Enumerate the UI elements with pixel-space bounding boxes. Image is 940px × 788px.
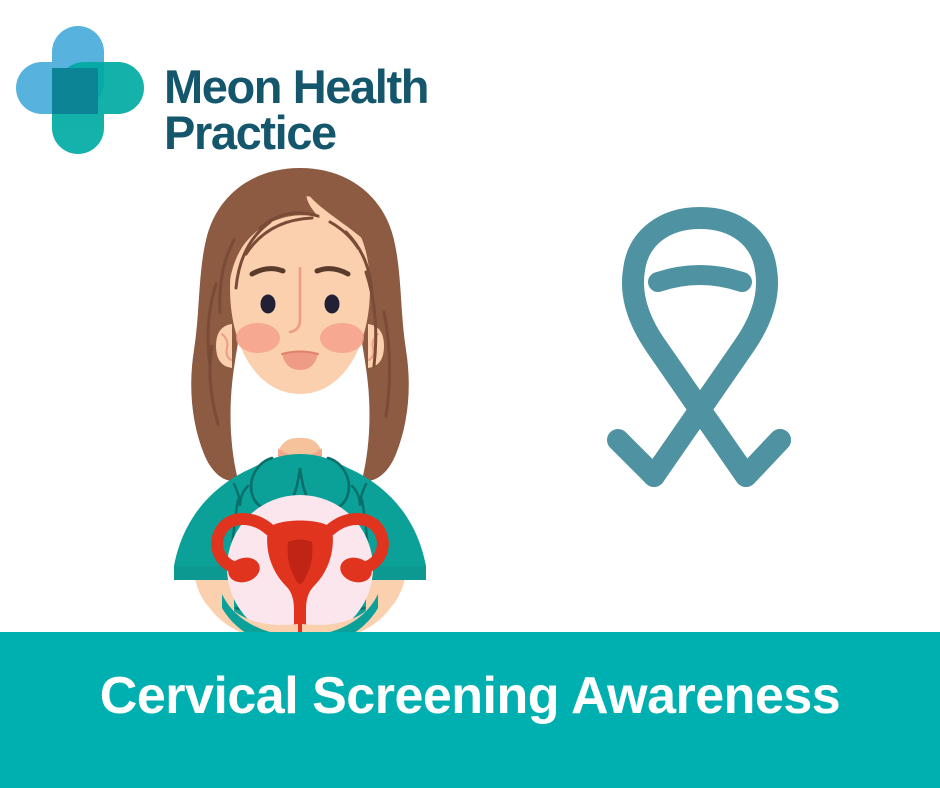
brand-wordmark: Meon Health Practice: [164, 64, 464, 156]
poster-canvas: Meon Health Practice: [0, 0, 940, 788]
title-banner: Cervical Screening Awareness: [0, 632, 940, 788]
eye-left: [261, 295, 276, 314]
brand-name-line-1: Meon Health: [164, 64, 464, 110]
brand-name-line-2: Practice: [164, 110, 464, 156]
blush-right: [320, 323, 364, 353]
eye-right: [325, 295, 340, 314]
woman-holding-uterus-illustration: [160, 162, 440, 632]
medical-cross-logo-icon: [14, 24, 146, 156]
awareness-ribbon-icon: [548, 186, 844, 496]
blush-left: [236, 323, 280, 353]
banner-title: Cervical Screening Awareness: [100, 666, 840, 726]
brand-logo[interactable]: Meon Health Practice: [14, 22, 444, 152]
